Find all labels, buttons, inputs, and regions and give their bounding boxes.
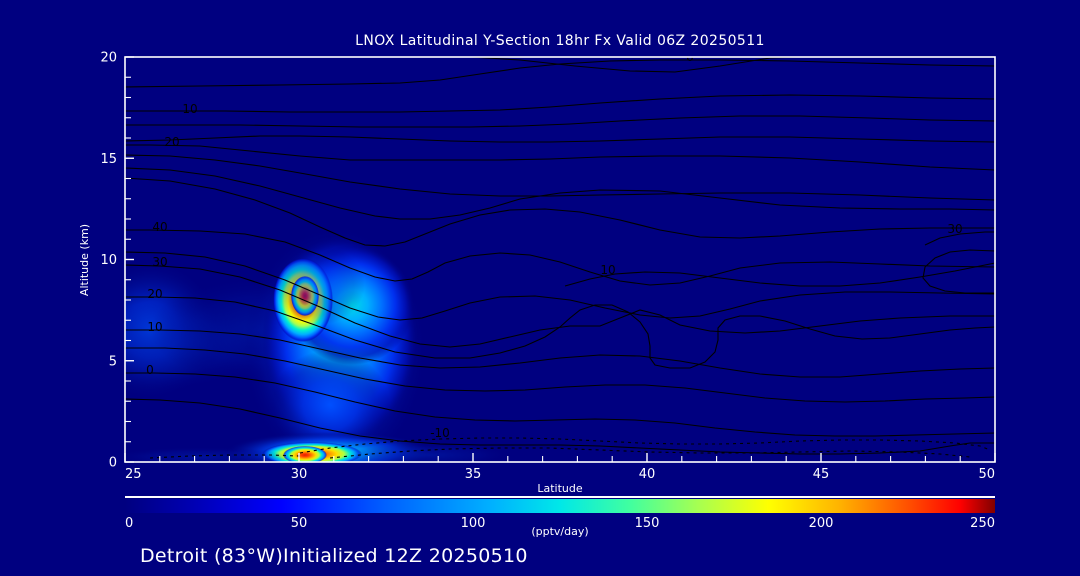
x-axis-tick-label: 25 <box>125 467 142 482</box>
colorbar-tick-label: 50 <box>291 516 308 531</box>
contour-label: 30 <box>947 222 962 236</box>
field-plume-top-halo <box>275 245 365 325</box>
colorbar-tick-label: 200 <box>809 516 834 531</box>
x-axis-tick-label: 45 <box>813 467 830 482</box>
colorbar-gradient[interactable] <box>125 499 995 513</box>
colorbar-tick-label: 150 <box>635 516 660 531</box>
x-axis-tick-label: 30 <box>291 467 308 482</box>
contour-label: 10 <box>147 320 162 334</box>
y-axis-tick-label: 0 <box>109 456 117 471</box>
colorbar-tick-label: 250 <box>970 516 995 531</box>
contour-label: 10 <box>182 102 197 116</box>
contour-label: 30 <box>152 255 167 269</box>
y-axis-tick-label: 20 <box>100 51 117 66</box>
lnox-cross-section-figure: LNOX Latitudinal Y-Section 18hr Fx Valid… <box>0 0 1080 576</box>
colorbar-tick-label: 100 <box>461 516 486 531</box>
contour-label: -10 <box>430 426 450 440</box>
colorbar-tick-label: 0 <box>125 516 133 531</box>
y-axis-tick-label: 15 <box>100 152 117 167</box>
y-axis-title: Altitude (km) <box>78 224 91 296</box>
contour-label: 0 <box>146 363 154 377</box>
colorbar[interactable] <box>125 497 995 513</box>
contour-label: 40 <box>152 220 167 234</box>
contour-label: 20 <box>164 135 179 149</box>
figure-title: LNOX Latitudinal Y-Section 18hr Fx Valid… <box>355 33 765 49</box>
contour-label: 10 <box>600 263 615 277</box>
contour-label: 20 <box>147 287 162 301</box>
x-axis-tick-label: 35 <box>465 467 482 482</box>
x-axis-tick-label: 40 <box>639 467 656 482</box>
plot-field <box>80 57 995 475</box>
figure-caption: Detroit (83°W)Initialized 12Z 20250510 <box>140 545 528 567</box>
x-axis-title: Latitude <box>537 482 583 495</box>
y-axis-tick-label: 5 <box>109 354 117 369</box>
y-axis-tick-label: 10 <box>100 253 117 268</box>
colorbar-unit-label: (pptv/day) <box>531 525 588 538</box>
x-axis-tick-label: 50 <box>978 467 995 482</box>
